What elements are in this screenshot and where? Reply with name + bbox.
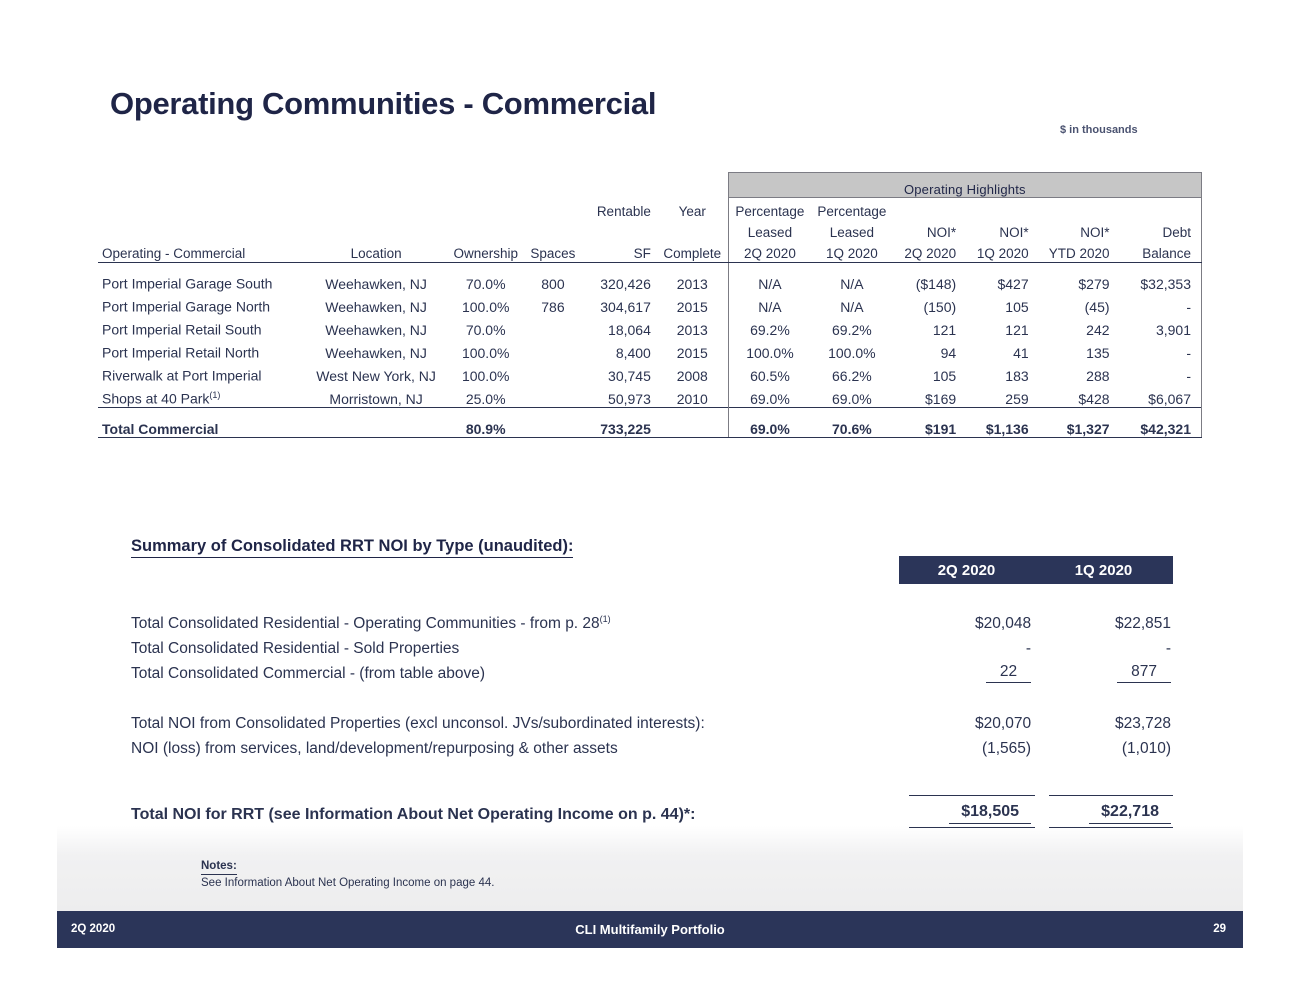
cell-debt: -: [1120, 292, 1202, 315]
cell-debt: 3,901: [1120, 315, 1202, 338]
cell-leased-2q: 69.2%: [728, 315, 811, 338]
cell-ownership: 100.0%: [446, 361, 525, 384]
cell-noi-ytd: 135: [1039, 338, 1120, 361]
header-noi-2q: NOI*: [893, 219, 967, 240]
total-spaces: [525, 408, 580, 438]
summary-spacer: [131, 683, 1173, 708]
cell-sf: 30,745: [580, 361, 656, 384]
cell-sf: 50,973: [580, 384, 656, 408]
cell-property-name: Riverwalk at Port Imperial: [98, 361, 306, 384]
summary-col-2q-label: 2Q 2020: [899, 562, 1034, 579]
total-noi-2q: $191: [893, 408, 967, 438]
header-percentage-1q: Percentage: [811, 198, 892, 220]
summary-period-band: 2Q 2020 1Q 2020: [899, 556, 1173, 584]
cell-location: Weehawken, NJ: [306, 315, 446, 338]
cell-debt: $32,353: [1120, 263, 1202, 293]
cell-noi-2q: 121: [893, 315, 967, 338]
header-debt-balance: Balance: [1120, 240, 1202, 263]
header-noi-ytd-period: YTD 2020: [1039, 240, 1120, 263]
cell-sf: 304,617: [580, 292, 656, 315]
cell-location: Weehawken, NJ: [306, 338, 446, 361]
summary-value-2q: $20,070: [895, 708, 1035, 733]
notes-heading: Notes:: [201, 858, 237, 875]
cell-spaces: [525, 338, 580, 361]
summary-label: Total Consolidated Commercial - (from ta…: [131, 658, 895, 683]
summary-subtotal-row: NOI (loss) from services, land/developme…: [131, 733, 1173, 758]
header-noi-1q: NOI*: [966, 219, 1038, 240]
summary-label-text: Total Consolidated Residential - Sold Pr…: [131, 640, 459, 657]
summary-row: Total Consolidated Commercial - (from ta…: [131, 658, 1173, 683]
header-operating-commercial: Operating - Commercial: [98, 240, 306, 263]
summary-value-1q: 877: [1035, 658, 1173, 683]
summary-value-2q: 22: [895, 658, 1035, 683]
double-rule-2q: [895, 824, 1035, 828]
table-row: Shops at 40 Park(1) Morristown, NJ 25.0%…: [98, 384, 1202, 408]
summary-value-1q: $22,851: [1035, 608, 1173, 633]
cell-ownership: 70.0%: [446, 315, 525, 338]
cell-noi-2q: 94: [893, 338, 967, 361]
double-rule-1q: [1035, 824, 1173, 828]
summary-subtotal-row: Total NOI from Consolidated Properties (…: [131, 708, 1173, 733]
cell-noi-1q: 41: [966, 338, 1038, 361]
cell-sf: 8,400: [580, 338, 656, 361]
cell-leased-1q: N/A: [811, 263, 892, 293]
header-year: Year: [657, 198, 728, 220]
header-noi-2q-period: 2Q 2020: [893, 240, 967, 263]
header-sf: SF: [580, 240, 656, 263]
header-leased-1q: Leased: [811, 219, 892, 240]
operating-highlights-banner: Operating Highlights: [728, 173, 1201, 198]
summary-value-1q: (1,010): [1035, 733, 1173, 758]
cell-noi-ytd: 288: [1039, 361, 1120, 384]
summary-label: Total NOI from Consolidated Properties (…: [131, 708, 895, 733]
summary-section-title: Summary of Consolidated RRT NOI by Type …: [131, 537, 573, 558]
total-ownership: 80.9%: [446, 408, 525, 438]
header-spaces: Spaces: [525, 240, 580, 263]
header-leased-2q-period: 2Q 2020: [728, 240, 811, 263]
header-debt: Debt: [1120, 219, 1202, 240]
property-name-text: Port Imperial Retail South: [102, 322, 262, 338]
header-rentable: Rentable: [580, 198, 656, 220]
property-name-text: Shops at 40 Park: [102, 391, 209, 407]
cell-noi-2q: ($148): [893, 263, 967, 293]
total-sf: 733,225: [580, 408, 656, 438]
highlights-banner-row: Operating Highlights: [98, 173, 1202, 198]
cell-noi-ytd: 242: [1039, 315, 1120, 338]
header-leased-2q: Leased: [728, 219, 811, 240]
header-location: Location: [306, 240, 446, 263]
cell-ownership: 25.0%: [446, 384, 525, 408]
total-debt: $42,321: [1120, 408, 1202, 438]
cell-leased-1q: 69.2%: [811, 315, 892, 338]
cell-leased-2q: 60.5%: [728, 361, 811, 384]
grand-total-value-2q: $18,505: [895, 796, 1035, 824]
total-rule-1q: [1035, 780, 1173, 796]
table-row: Port Imperial Garage South Weehawken, NJ…: [98, 263, 1202, 293]
summary-label-text: Total Consolidated Commercial - (from ta…: [131, 665, 485, 682]
cell-leased-2q: N/A: [728, 292, 811, 315]
cell-leased-2q: N/A: [728, 263, 811, 293]
cell-property-name: Port Imperial Garage South: [98, 263, 306, 293]
cell-year: 2013: [657, 315, 728, 338]
notes-block: Notes: See Information About Net Operati…: [201, 858, 494, 891]
total-rule-2q: [895, 780, 1035, 796]
header-complete: Complete: [657, 240, 728, 263]
cell-leased-1q: N/A: [811, 292, 892, 315]
cell-noi-ytd: $428: [1039, 384, 1120, 408]
total-noi-ytd: $1,327: [1039, 408, 1120, 438]
slide-canvas: Operating Communities - Commercial $ in …: [0, 0, 1300, 1004]
cell-year: 2010: [657, 384, 728, 408]
total-leased-2q: 69.0%: [728, 408, 811, 438]
summary-rule-row: [131, 780, 1173, 796]
total-noi-1q: $1,136: [966, 408, 1038, 438]
property-name-text: Port Imperial Retail North: [102, 345, 259, 361]
summary-row: Total Consolidated Residential - Operati…: [131, 608, 1173, 633]
cell-year: 2015: [657, 338, 728, 361]
cell-noi-1q: $427: [966, 263, 1038, 293]
summary-value-1q: $23,728: [1035, 708, 1173, 733]
table-row: Port Imperial Retail North Weehawken, NJ…: [98, 338, 1202, 361]
cell-location: West New York, NJ: [306, 361, 446, 384]
summary-label: Total Consolidated Residential - Operati…: [131, 608, 895, 633]
cell-debt: -: [1120, 361, 1202, 384]
cell-leased-2q: 100.0%: [728, 338, 811, 361]
summary-table: Total Consolidated Residential - Operati…: [131, 608, 1173, 828]
cell-noi-ytd: (45): [1039, 292, 1120, 315]
notes-text: See Information About Net Operating Inco…: [201, 875, 494, 891]
header-noi-ytd: NOI*: [1039, 219, 1120, 240]
cell-spaces: [525, 315, 580, 338]
cell-sf: 320,426: [580, 263, 656, 293]
cell-noi-ytd: $279: [1039, 263, 1120, 293]
cell-property-name: Port Imperial Garage North: [98, 292, 306, 315]
summary-value-1q: -: [1035, 633, 1173, 658]
summary-grand-total-row: Total NOI for RRT (see Information About…: [131, 796, 1173, 824]
summary-label: NOI (loss) from services, land/developme…: [131, 733, 895, 758]
cell-leased-1q: 100.0%: [811, 338, 892, 361]
cell-noi-1q: 259: [966, 384, 1038, 408]
cell-location: Weehawken, NJ: [306, 292, 446, 315]
summary-value-2q-underlined: 22: [986, 663, 1031, 683]
header-percentage-2q: Percentage: [728, 198, 811, 220]
cell-property-name: Shops at 40 Park(1): [98, 384, 306, 408]
cell-location: Morristown, NJ: [306, 384, 446, 408]
grand-total-label: Total NOI for RRT (see Information About…: [131, 796, 895, 824]
cell-spaces: 800: [525, 263, 580, 293]
summary-spacer: [131, 758, 1173, 780]
slide-footer: 2Q 2020 CLI Multifamily Portfolio 29: [57, 911, 1243, 948]
header-noi-1q-period: 1Q 2020: [966, 240, 1038, 263]
summary-label-footnote: (1): [600, 614, 611, 624]
table-row: Port Imperial Garage North Weehawken, NJ…: [98, 292, 1202, 315]
header-leased-1q-period: 1Q 2020: [811, 240, 892, 263]
summary-col-1q-label: 1Q 2020: [1034, 562, 1173, 579]
summary-value-2q: $20,048: [895, 608, 1035, 633]
cell-spaces: [525, 384, 580, 408]
header-line-1: Rentable Year Percentage Percentage: [98, 198, 1202, 220]
cell-debt: -: [1120, 338, 1202, 361]
cell-noi-1q: 183: [966, 361, 1038, 384]
cell-leased-2q: 69.0%: [728, 384, 811, 408]
cell-spaces: [525, 361, 580, 384]
total-location: [306, 408, 446, 438]
cell-spaces: 786: [525, 292, 580, 315]
cell-noi-1q: 105: [966, 292, 1038, 315]
property-name-text: Port Imperial Garage North: [102, 299, 270, 315]
cell-year: 2015: [657, 292, 728, 315]
cell-noi-2q: 105: [893, 361, 967, 384]
property-name-text: Riverwalk at Port Imperial: [102, 368, 262, 384]
summary-value-2q: -: [895, 633, 1035, 658]
total-year: [657, 408, 728, 438]
cell-ownership: 100.0%: [446, 292, 525, 315]
header-line-3: Operating - Commercial Location Ownershi…: [98, 240, 1202, 263]
table-row: Port Imperial Retail South Weehawken, NJ…: [98, 315, 1202, 338]
cell-sf: 18,064: [580, 315, 656, 338]
operating-commercial-table: Operating Highlights Rentable Year Perce…: [98, 172, 1202, 438]
cell-year: 2008: [657, 361, 728, 384]
grand-total-value-1q: $22,718: [1035, 796, 1173, 824]
header-ownership: Ownership: [446, 240, 525, 263]
property-footnote: (1): [209, 390, 220, 400]
summary-row: Total Consolidated Residential - Sold Pr…: [131, 633, 1173, 658]
cell-debt: $6,067: [1120, 384, 1202, 408]
footer-title: CLI Multifamily Portfolio: [57, 922, 1243, 937]
units-note: $ in thousands: [1060, 124, 1138, 136]
cell-noi-2q: $169: [893, 384, 967, 408]
total-leased-1q: 70.6%: [811, 408, 892, 438]
cell-leased-1q: 66.2%: [811, 361, 892, 384]
cell-property-name: Port Imperial Retail North: [98, 338, 306, 361]
operating-commercial-table-wrap: Operating Highlights Rentable Year Perce…: [98, 172, 1202, 438]
cell-location: Weehawken, NJ: [306, 263, 446, 293]
header-line-2: Leased Leased NOI* NOI* NOI* Debt: [98, 219, 1202, 240]
grand-total-2q-text: $18,505: [949, 803, 1031, 824]
page-title: Operating Communities - Commercial: [110, 86, 656, 122]
total-label: Total Commercial: [98, 408, 306, 438]
summary-value-1q-underlined: 877: [1117, 663, 1171, 683]
cell-noi-2q: (150): [893, 292, 967, 315]
summary-label-text: Total Consolidated Residential - Operati…: [131, 615, 600, 632]
cell-ownership: 100.0%: [446, 338, 525, 361]
grand-total-1q-text: $22,718: [1089, 803, 1171, 824]
summary-value-2q: (1,565): [895, 733, 1035, 758]
table-row: Riverwalk at Port Imperial West New York…: [98, 361, 1202, 384]
cell-year: 2013: [657, 263, 728, 293]
summary-double-rule-row: [131, 824, 1173, 828]
property-name-text: Port Imperial Garage South: [102, 276, 272, 292]
cell-property-name: Port Imperial Retail South: [98, 315, 306, 338]
cell-noi-1q: 121: [966, 315, 1038, 338]
table-total-row: Total Commercial 80.9% 733,225 69.0% 70.…: [98, 408, 1202, 438]
summary-label: Total Consolidated Residential - Sold Pr…: [131, 633, 895, 658]
footer-page-number: 29: [1213, 923, 1226, 935]
cell-ownership: 70.0%: [446, 263, 525, 293]
cell-leased-1q: 69.0%: [811, 384, 892, 408]
